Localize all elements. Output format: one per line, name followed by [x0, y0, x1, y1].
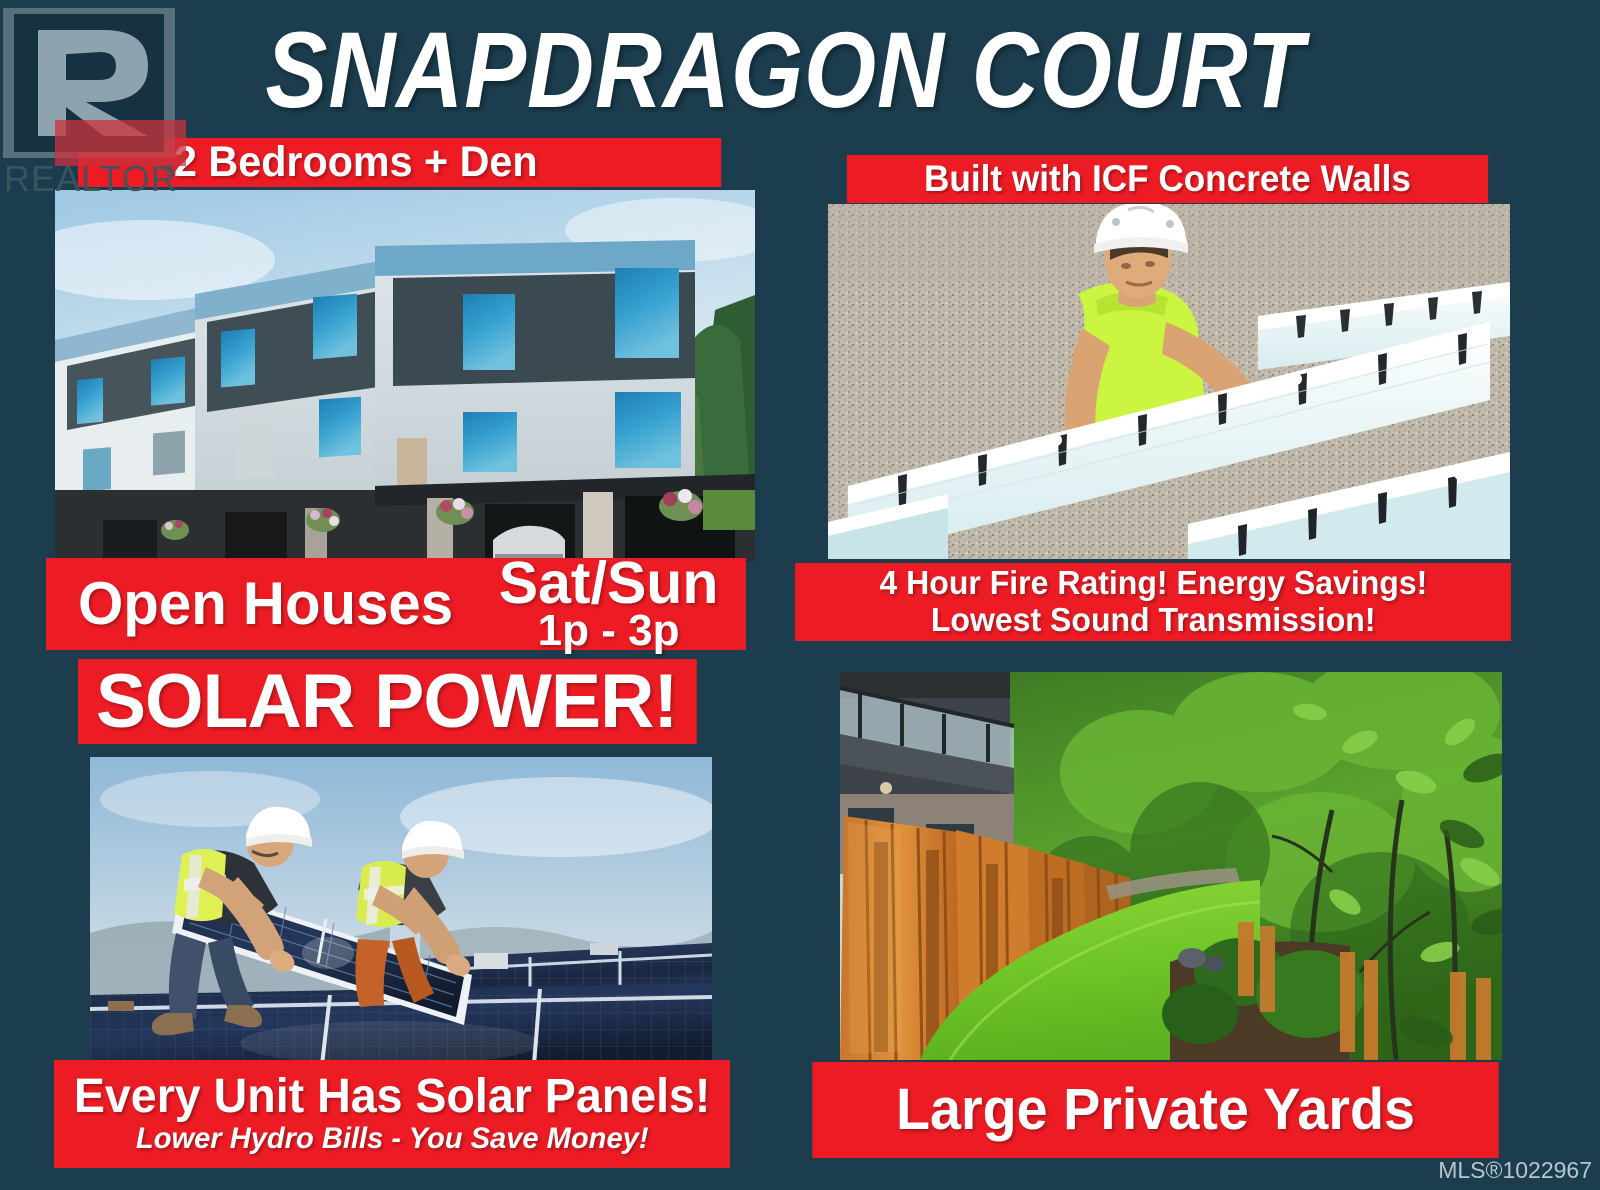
- solar-caption-headline: Every Unit Has Solar Panels!: [74, 1073, 711, 1122]
- solar-caption-subline: Lower Hydro Bills - You Save Money!: [136, 1124, 649, 1155]
- open-house-label: Open Houses: [78, 573, 453, 634]
- solar-power-banner: SOLAR POWER!: [78, 659, 697, 744]
- bedrooms-banner: 2 Bedrooms + Den: [78, 138, 721, 187]
- icf-block-install-photo: [828, 204, 1510, 559]
- icf-banner: Built with ICF Concrete Walls: [847, 155, 1488, 203]
- townhouse-exterior-photo: [55, 190, 755, 562]
- private-yard-photo: [840, 672, 1502, 1060]
- solar-caption-banner: Every Unit Has Solar Panels! Lower Hydro…: [54, 1060, 730, 1168]
- page-title: SNAPDRAGON COURT: [269, 14, 1301, 126]
- icf-benefits-banner: 4 Hour Fire Rating! Energy Savings! Lowe…: [795, 563, 1511, 641]
- private-yards-banner: Large Private Yards: [812, 1062, 1498, 1158]
- icf-benefit-line-2: Lowest Sound Transmission!: [931, 602, 1376, 639]
- icf-benefit-line-1: 4 Hour Fire Rating! Energy Savings!: [879, 565, 1427, 602]
- open-house-days: Sat/Sun: [499, 556, 719, 611]
- mls-number: MLS®1022967: [1438, 1157, 1592, 1184]
- open-house-time: 1p - 3p: [538, 611, 680, 652]
- listing-poster: SNAPDRAGON COURT: [0, 0, 1600, 1190]
- solar-panel-install-photo: [90, 757, 712, 1065]
- open-house-schedule: Sat/Sun 1p - 3p: [499, 556, 719, 652]
- open-house-banner: Open Houses Sat/Sun 1p - 3p: [46, 558, 746, 650]
- realtor-monogram-icon: [38, 30, 148, 136]
